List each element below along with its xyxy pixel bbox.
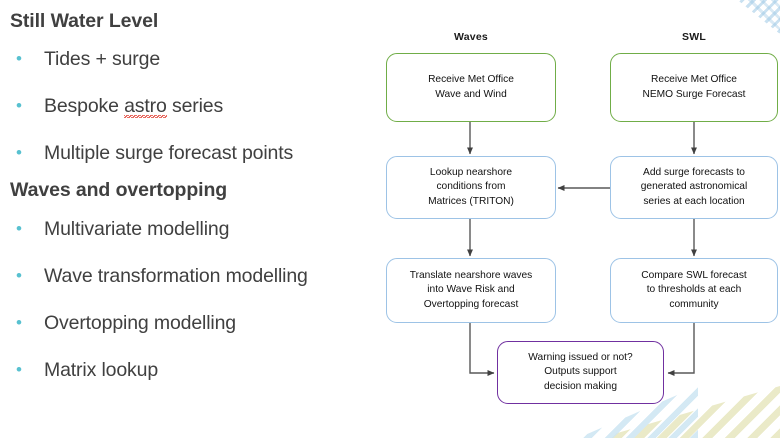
node-line: Compare SWL forecast: [641, 269, 747, 284]
node-warning-issued-or-not[interactable]: Warning issued or not? Outputs support d…: [497, 341, 664, 404]
node-line: decision making: [528, 380, 632, 395]
node-line: to thresholds at each: [641, 283, 747, 298]
node-line: Lookup nearshore: [428, 166, 514, 181]
node-line: Wave and Wind: [428, 88, 514, 103]
node-lookup-nearshore-conditions[interactable]: Lookup nearshore conditions from Matrice…: [386, 156, 556, 219]
node-line: Translate nearshore waves: [410, 269, 533, 284]
slide-canvas: Still Water Level • Tides + surge • Besp…: [0, 0, 780, 438]
node-compare-swl-forecast[interactable]: Compare SWL forecast to thresholds at ea…: [610, 258, 778, 323]
node-line: conditions from: [428, 180, 514, 195]
node-line: generated astronomical: [641, 180, 747, 195]
node-line: into Wave Risk and: [410, 283, 533, 298]
node-translate-nearshore-waves[interactable]: Translate nearshore waves into Wave Risk…: [386, 258, 556, 323]
node-line: Receive Met Office: [642, 73, 745, 88]
flowchart: Waves SWL Receive Met Office Wave and Wi…: [0, 0, 780, 438]
node-line: NEMO Surge Forecast: [642, 88, 745, 103]
node-receive-met-office-wave-and-wind[interactable]: Receive Met Office Wave and Wind: [386, 53, 556, 122]
column-label-waves: Waves: [386, 31, 556, 43]
node-line: Overtopping forecast: [410, 298, 533, 313]
node-line: Add surge forecasts to: [641, 166, 747, 181]
node-line: Warning issued or not?: [528, 351, 632, 366]
node-line: Outputs support: [528, 365, 632, 380]
column-label-swl: SWL: [610, 31, 778, 43]
node-add-surge-forecasts[interactable]: Add surge forecasts to generated astrono…: [610, 156, 778, 219]
node-line: Matrices (TRITON): [428, 195, 514, 210]
node-line: Receive Met Office: [428, 73, 514, 88]
node-receive-met-office-nemo-surge-forecast[interactable]: Receive Met Office NEMO Surge Forecast: [610, 53, 778, 122]
node-line: series at each location: [641, 195, 747, 210]
node-line: community: [641, 298, 747, 313]
